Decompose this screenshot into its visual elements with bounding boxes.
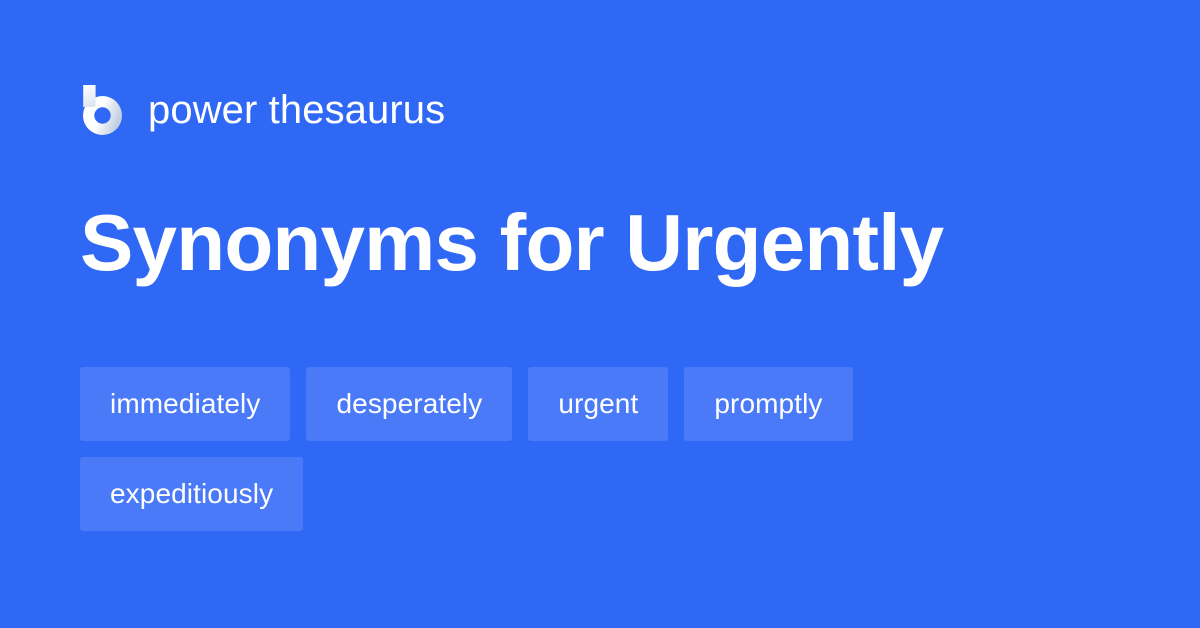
share-card: power thesaurus Synonyms for Urgently im…: [0, 0, 1200, 628]
synonym-chip[interactable]: urgent: [528, 367, 668, 441]
synonym-chip[interactable]: immediately: [80, 367, 290, 441]
page-title: Synonyms for Urgently: [80, 198, 943, 288]
synonym-chip[interactable]: desperately: [306, 367, 512, 441]
synonym-chip-list: immediately desperately urgent promptly …: [80, 367, 1080, 531]
brand-name: power thesaurus: [148, 90, 445, 130]
power-thesaurus-logo-icon: [80, 85, 126, 135]
synonym-chip[interactable]: expeditiously: [80, 457, 303, 531]
brand-header[interactable]: power thesaurus: [80, 82, 445, 138]
synonym-chip[interactable]: promptly: [684, 367, 852, 441]
